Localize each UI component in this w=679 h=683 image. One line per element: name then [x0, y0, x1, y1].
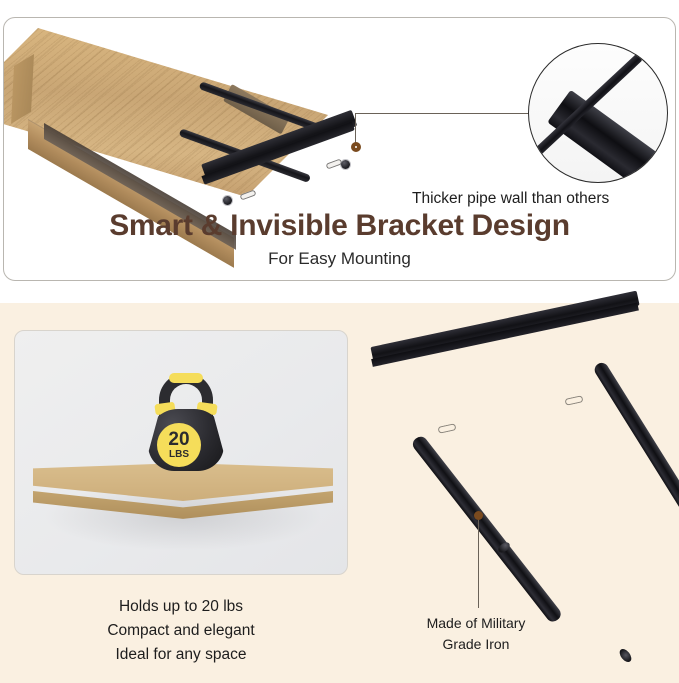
capacity-caption-block: Holds up to 20 lbs Compact and elegant I…: [14, 595, 348, 667]
bracket-photo: [360, 323, 679, 623]
weight-badge-value: 20: [168, 430, 189, 449]
bracket-pipe-open-end: [617, 647, 633, 664]
magnified-pipe: [547, 90, 668, 183]
page-subtitle: For Easy Mounting: [0, 249, 679, 269]
capacity-photo-panel: 20 LBS: [14, 330, 348, 575]
caption-line: Ideal for any space: [14, 643, 348, 667]
bracket-screw-hole: [223, 196, 232, 205]
product-feature-image: Thicker pipe wall than others Smart & In…: [0, 0, 679, 683]
page-title: Smart & Invisible Bracket Design: [0, 209, 679, 243]
caption-line: Compact and elegant: [14, 619, 348, 643]
caption-line: Holds up to 20 lbs: [14, 595, 348, 619]
material-caption-block: Made of Military Grade Iron: [360, 613, 592, 655]
caption-line: Grade Iron: [360, 634, 592, 655]
bottom-feature-section: 20 LBS Holds up to 20 lbs Compact and el…: [0, 303, 679, 683]
caption-line: Made of Military: [360, 613, 592, 634]
weight-badge: 20 LBS: [157, 423, 201, 467]
bracket-slot-hole: [564, 395, 583, 406]
bracket-slot-hole: [437, 423, 456, 434]
kettlebell-grip-top: [169, 373, 203, 383]
bracket-screw-hole: [341, 160, 350, 169]
callout-label: Thicker pipe wall than others: [412, 190, 674, 208]
callout-leader-vertical: [478, 520, 479, 608]
bracket-pipe-front: [410, 434, 563, 624]
callout-marker-dot-icon: [351, 142, 361, 152]
kettlebell-icon: 20 LBS: [143, 373, 229, 471]
magnifier-inset: [528, 43, 668, 183]
bracket-pipe-back: [592, 360, 679, 516]
callout-leader-horizontal: [355, 113, 534, 114]
weight-badge-unit: LBS: [169, 450, 189, 460]
callout-marker-dot-icon: [474, 511, 483, 520]
bracket-plate-face: [371, 303, 639, 367]
